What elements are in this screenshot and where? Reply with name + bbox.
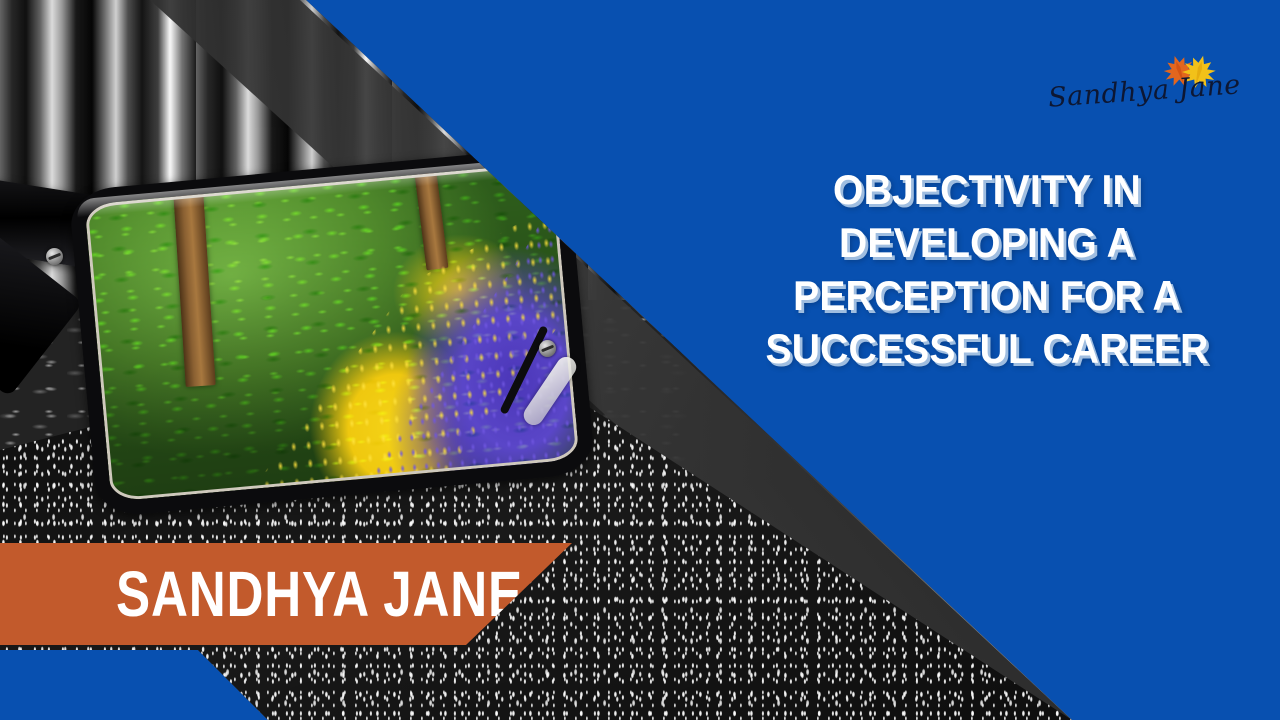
hinge-screw-icon <box>539 340 556 357</box>
title-line-4: SUCCESSFUL CAREER <box>755 322 1218 375</box>
hinge-screw-icon <box>46 248 63 265</box>
author-name: SANDHYA JANE <box>116 562 523 626</box>
glasses-lens-frame <box>68 146 596 518</box>
page-title: OBJECTIVITY IN DEVELOPING A PERCEPTION F… <box>738 163 1236 375</box>
presentation-slide: Sandhya Jane OBJECTIVITY IN DEVELOPING A… <box>0 0 1280 720</box>
title-line-2: DEVELOPING A <box>755 216 1218 269</box>
brand-logo[interactable]: Sandhya Jane <box>1040 48 1230 118</box>
title-line-3: PERCEPTION FOR A <box>755 269 1218 322</box>
brand-logo-name: Sandhya Jane <box>1047 69 1242 113</box>
title-line-1: OBJECTIVITY IN <box>755 163 1218 216</box>
